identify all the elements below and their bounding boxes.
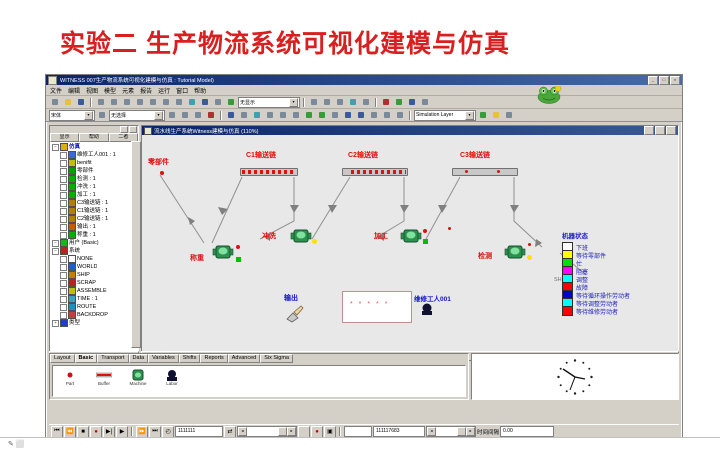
app-title-text: WITNESS 007生产物流系统可视化建模与仿真 : Tutorial Mod… <box>60 76 648 84</box>
pin-tool-icon[interactable] <box>303 109 315 121</box>
system-item-icon <box>68 303 76 311</box>
tree-tab-help[interactable]: 帮助 <box>79 133 108 142</box>
part-icon <box>68 167 76 175</box>
part-marker <box>160 171 164 175</box>
element-tab-six-sigma[interactable]: Six Sigma <box>260 354 293 363</box>
rewind-all-button[interactable]: ⏮ <box>51 426 63 438</box>
toolbar-separator <box>90 98 92 107</box>
variable-icon <box>68 159 76 167</box>
layer-hide-icon[interactable] <box>490 109 502 121</box>
chart-icon[interactable] <box>406 96 418 108</box>
conveyor-icon <box>68 215 76 223</box>
run-icon[interactable] <box>380 96 392 108</box>
tree-system-checkbox[interactable] <box>60 304 67 311</box>
layer-combo-value: Simulation Layer <box>416 112 453 118</box>
legend-rows: 下班等待零部件忙阻塞调整故障等待循环操作劳动者等待调整劳动者等待维修劳动者 <box>562 243 672 315</box>
tree-item-label: 维修工人001 : 1 <box>77 151 116 159</box>
inspect-status-yellow <box>527 255 532 260</box>
tree-type-checkbox[interactable]: + <box>52 320 59 327</box>
element-label: Part <box>59 381 81 386</box>
labor-icon <box>161 369 183 381</box>
tree-system-checkbox[interactable] <box>60 312 67 319</box>
tree-item-label: 加工 : 1 <box>77 191 96 199</box>
pencil-icon[interactable] <box>368 109 380 121</box>
open-icon[interactable] <box>62 96 74 108</box>
stop-button[interactable]: ■ <box>77 426 89 438</box>
element-label: Labor <box>161 381 183 386</box>
tree-item-checkbox[interactable] <box>60 192 67 199</box>
conveyor-c1-parts <box>242 170 296 174</box>
arrow-tool-icon[interactable] <box>381 109 393 121</box>
line-tool-icon[interactable] <box>264 109 276 121</box>
system-item-icon <box>68 287 76 295</box>
tree-system-label: 系统 <box>69 247 80 255</box>
record-button[interactable]: ● <box>90 426 102 438</box>
color-icon[interactable] <box>205 109 217 121</box>
select-icon[interactable] <box>134 96 146 108</box>
tree-item-0[interactable]: 维修工人001 : 1 <box>51 151 138 159</box>
zoom-combo[interactable]: 无显示 ▾ <box>238 97 300 108</box>
tree-panel-caption[interactable] <box>50 126 138 133</box>
toolbar-separator-2 <box>303 98 305 107</box>
time-interval-field[interactable]: 0.00 <box>500 426 554 437</box>
tree-node-label: 仿真 <box>69 143 80 151</box>
window-arrange-icon[interactable] <box>334 96 346 108</box>
circle-tool-icon[interactable] <box>277 109 289 121</box>
zoom-combo-value: 无显示 <box>240 99 255 106</box>
tree-item-label: C2输送链 : 1 <box>77 215 108 223</box>
system-item-icon <box>68 271 76 279</box>
tree-vertical-scrollbar[interactable] <box>131 141 141 348</box>
lock-icon[interactable] <box>329 109 341 121</box>
rewind-button[interactable]: ⏪ <box>64 426 76 438</box>
tree-item-1[interactable]: benifit <box>51 159 138 167</box>
element-panel-body[interactable]: PartBufferMachineLabor <box>52 365 466 397</box>
layer-show-icon[interactable] <box>477 109 489 121</box>
tree-system-item-label: BACKDROP <box>77 311 108 319</box>
label-labor: 维修工人001 <box>414 293 451 303</box>
system-item-icon <box>68 295 76 303</box>
speed-scroller[interactable]: ◂ ▸ <box>237 426 297 437</box>
ship-icon <box>68 223 76 231</box>
display-refresh-icon[interactable] <box>298 426 310 438</box>
tree-system-item-5[interactable]: TIME : 1 <box>51 295 138 303</box>
style-combo-value: 无选择 <box>111 112 126 119</box>
system-item-icon <box>68 263 76 271</box>
element-label: Buffer <box>93 381 115 386</box>
step-button[interactable]: ▶| <box>103 426 115 438</box>
tree-system-item-2[interactable]: SHIP <box>51 271 138 279</box>
tree-close-button[interactable] <box>129 126 137 133</box>
label-conveyor2: C2输送链 <box>348 150 378 160</box>
element-tab-variables[interactable]: Variables <box>148 354 179 363</box>
underline-icon[interactable] <box>192 109 204 121</box>
tree-item-6[interactable]: C3输送链 : 1 <box>51 199 138 207</box>
tree-item-4[interactable]: 冲洗 : 1 <box>51 183 138 191</box>
tree-item-5[interactable]: 加工 : 1 <box>51 191 138 199</box>
tree-tabs[interactable]: 显示 帮助 二者 <box>50 133 138 142</box>
zoom-in-icon[interactable] <box>95 96 107 108</box>
step-value-field[interactable]: 1111111 <box>175 426 223 437</box>
element-machine[interactable]: Machine <box>127 369 149 393</box>
page-footer-strip: ✎ ⬜ <box>0 437 720 450</box>
refresh-icon[interactable] <box>347 96 359 108</box>
new-icon[interactable] <box>49 96 61 108</box>
speed-right-arrow[interactable]: ▸ <box>287 427 296 436</box>
menu-item-edit[interactable]: 编辑 <box>68 86 80 95</box>
statusbar-separator-2 <box>339 427 341 436</box>
window-cascade-icon[interactable] <box>321 96 333 108</box>
workspace: 显示 帮助 二者 − 仿真 维修工人001 : 1benifit零部件检测 : … <box>46 123 682 440</box>
menu-item-report[interactable]: 报告 <box>140 86 152 95</box>
labor-icon <box>68 151 76 159</box>
pointer-icon[interactable] <box>394 109 406 121</box>
weigh-status-red <box>236 245 240 249</box>
align-icon[interactable] <box>173 96 185 108</box>
menu-item-window[interactable]: 窗口 <box>176 86 188 95</box>
machine-tool-icon[interactable] <box>251 109 263 121</box>
tree-system-item-label: TIME : 1 <box>77 295 98 303</box>
chevron-down-icon-layer[interactable]: ▾ <box>465 111 474 120</box>
output-ship-icon[interactable] <box>284 305 306 323</box>
wash-status-yellow <box>312 239 317 244</box>
tree-item-label: 冲洗 : 1 <box>77 183 96 191</box>
element-tab-layout[interactable]: Layout <box>50 354 75 363</box>
model-window-icon <box>144 127 152 135</box>
element-tab-data[interactable]: Data <box>129 354 149 363</box>
tree-item-2[interactable]: 零部件 <box>51 167 138 175</box>
machine-icon <box>127 369 149 381</box>
tree-user-label: 用户 (Basic) <box>69 239 99 247</box>
tree-item-9[interactable]: 输出 : 1 <box>51 223 138 231</box>
zoom-out-icon[interactable] <box>108 96 120 108</box>
clock-icon[interactable]: ◴ <box>162 426 174 438</box>
tree-item-3[interactable]: 检测 : 1 <box>51 175 138 183</box>
conveyor-icon <box>68 199 76 207</box>
legend-swatch <box>562 306 573 316</box>
menu-item-model[interactable]: 模型 <box>104 86 116 95</box>
tree-item-checkbox[interactable] <box>60 216 67 223</box>
machine-icon <box>68 191 76 199</box>
layer-lock-icon[interactable] <box>503 109 515 121</box>
font-combo[interactable]: 宋体 ▾ <box>49 110 95 121</box>
machine-icon <box>68 175 76 183</box>
tree-minimize-button[interactable] <box>120 126 128 133</box>
label-output: 输出 <box>284 293 298 303</box>
tree-icon[interactable] <box>393 96 405 108</box>
system-item-icon <box>68 255 76 263</box>
element-tab-transport[interactable]: Transport <box>97 354 128 363</box>
tree-system-item-label: WORLD <box>77 263 97 271</box>
minimize-button[interactable]: _ <box>648 76 658 85</box>
app-icon <box>48 76 57 85</box>
tree-system-checkbox[interactable] <box>60 272 67 279</box>
tree-system-item-4[interactable]: ASSEMBLE <box>51 287 138 295</box>
table-icon[interactable] <box>342 109 354 121</box>
chevron-down-icon-font[interactable]: ▾ <box>84 111 93 120</box>
label-conveyor3: C3输送链 <box>460 150 490 160</box>
menu-item-run[interactable]: 运行 <box>158 86 170 95</box>
menu-item-element[interactable]: 元素 <box>122 86 134 95</box>
model-window-title: 流水线生产系统Witness建模与仿真 (110%) <box>154 127 258 135</box>
menu-item-view[interactable]: 视图 <box>86 86 98 95</box>
conveyor-c2[interactable] <box>342 168 408 176</box>
tree-item-8[interactable]: C2输送链 : 1 <box>51 215 138 223</box>
speed-icon[interactable]: ⇄ <box>224 426 236 438</box>
analog-clock-icon <box>555 357 595 397</box>
format-separator <box>220 111 222 120</box>
tree-node-user[interactable]: − 用户 (Basic) <box>51 239 138 247</box>
output-report-stars: * * * * * <box>350 301 389 308</box>
system-folder-icon <box>60 247 68 255</box>
legend-row-8: 等待维修劳动者 <box>562 307 672 315</box>
tree-system-item-label: SCRAP <box>77 279 96 287</box>
tree-item-label: C3输送链 : 1 <box>77 199 108 207</box>
process-status-red <box>423 229 427 233</box>
system-item-icon <box>68 279 76 287</box>
canvas-free-part <box>448 227 451 230</box>
text-icon[interactable] <box>212 96 224 108</box>
tree-system-checkbox[interactable] <box>60 296 67 303</box>
legend-title: 机器状态 <box>562 230 672 240</box>
label-conveyor1: C1输送链 <box>246 150 276 160</box>
buffer-tool-icon[interactable] <box>238 109 250 121</box>
clock-panel <box>471 353 679 400</box>
model-close-button[interactable] <box>666 126 676 135</box>
display-icon[interactable] <box>225 96 237 108</box>
tree-item-checkbox[interactable] <box>60 160 67 167</box>
chevron-down-icon[interactable]: ▾ <box>289 98 298 107</box>
tree-node-type[interactable]: + 类型 <box>51 319 138 327</box>
report-icon[interactable] <box>355 109 367 121</box>
conveyor-c3-part-1 <box>465 170 468 173</box>
italic-icon[interactable] <box>179 109 191 121</box>
time-interval-label: 时间间隔 <box>477 428 499 436</box>
tree-system-checkbox[interactable] <box>60 256 67 263</box>
type-folder-icon <box>60 319 68 327</box>
folder-icon <box>60 143 68 151</box>
tree-system-item-label: SHIP <box>77 271 90 279</box>
tree-system-item-6[interactable]: ROUTE <box>51 303 138 311</box>
tree-item-label: 输出 : 1 <box>77 223 96 231</box>
tree-system-item-label: ROUTE <box>77 303 96 311</box>
element-tab-advanced[interactable]: Advanced <box>228 354 260 363</box>
tree-item-10[interactable]: 称重 : 1 <box>51 231 138 239</box>
move-up-icon[interactable] <box>147 96 159 108</box>
model-window-titlebar: 流水线生产系统Witness建模与仿真 (110%) <box>142 126 678 135</box>
part-tool-icon[interactable] <box>225 109 237 121</box>
simulation-statusbar[interactable]: ⏮ ⏪ ■ ● ▶| ▶ ⏩ ⏭ ◴ 1111111 ⇄ ◂ ▸ ● <box>49 424 679 438</box>
conveyor-c2-parts <box>351 170 406 174</box>
tree-system-item-1[interactable]: WORLD <box>51 263 138 271</box>
tree-system-item-label: NONE <box>77 255 93 263</box>
tree-user-checkbox[interactable]: − <box>52 240 59 247</box>
page-title: 实验二 生产物流系统可视化建模与仿真 <box>60 24 510 60</box>
menu-item-file[interactable]: 文件 <box>50 86 62 95</box>
machine-icon <box>68 183 76 191</box>
tree-expand-checkbox[interactable]: − <box>52 144 59 151</box>
speed-thumb[interactable] <box>278 427 287 436</box>
app-titlebar: WITNESS 007生产物流系统可视化建模与仿真 : Tutorial Mod… <box>46 75 682 85</box>
part-icon <box>59 369 81 381</box>
main-toolbar[interactable]: 无显示 ▾ <box>46 96 682 109</box>
model-window-controls[interactable] <box>644 126 676 135</box>
zoom-fit-icon[interactable] <box>121 96 133 108</box>
machine-icon <box>68 231 76 239</box>
inspect-status-red <box>528 243 531 246</box>
tree-item-checkbox[interactable] <box>60 232 67 239</box>
tree-item-7[interactable]: C1输送链 : 1 <box>51 207 138 215</box>
element-labor[interactable]: Labor <box>161 369 183 393</box>
user-folder-icon <box>60 239 68 247</box>
window-controls[interactable]: _ □ × <box>648 76 680 85</box>
tree-system-checkbox[interactable] <box>60 288 67 295</box>
machine-wash[interactable] <box>290 227 312 245</box>
tree-item-checkbox[interactable] <box>60 176 67 183</box>
time-right-arrow[interactable]: ▸ <box>466 427 475 436</box>
window-tile-icon[interactable] <box>308 96 320 108</box>
info-icon[interactable] <box>360 96 372 108</box>
menubar[interactable]: 文件 编辑 视图 模型 元素 报告 运行 窗口 帮助 <box>46 85 682 96</box>
element-buffer[interactable]: Buffer <box>93 369 115 393</box>
rect-tool-icon[interactable] <box>290 109 302 121</box>
grid-icon[interactable] <box>419 96 431 108</box>
buffer-icon <box>93 369 115 381</box>
tree-item-label: 零部件 <box>77 167 94 175</box>
close-button[interactable]: × <box>670 76 680 85</box>
tree-item-checkbox[interactable] <box>60 224 67 231</box>
model-maximize-button[interactable] <box>655 126 665 135</box>
model-window: 流水线生产系统Witness建模与仿真 (110%) <box>141 125 679 352</box>
tree-system-checkbox[interactable] <box>60 264 67 271</box>
tree-item-label: 检测 : 1 <box>77 175 96 183</box>
tree-system-checkbox[interactable] <box>60 280 67 287</box>
format-separator-2 <box>409 111 411 120</box>
tree-system-item-0[interactable]: NONE <box>51 255 138 263</box>
tree-node-simulation[interactable]: − 仿真 <box>51 143 138 151</box>
weigh-status-green <box>236 257 241 262</box>
system-item-icon <box>68 311 76 319</box>
conveyor-icon <box>68 207 76 215</box>
maximize-button[interactable]: □ <box>659 76 669 85</box>
unpin-tool-icon[interactable] <box>316 109 328 121</box>
layer-icon[interactable] <box>199 96 211 108</box>
label-weigh: 称重 <box>190 253 204 263</box>
save-icon[interactable] <box>75 96 87 108</box>
speed-left-arrow[interactable]: ◂ <box>238 427 247 436</box>
time-scroller[interactable]: ◂ ▸ <box>426 426 476 437</box>
tree-item-checkbox[interactable] <box>60 208 67 215</box>
bold-icon[interactable] <box>166 109 178 121</box>
legend-label: 等待维修劳动者 <box>576 307 618 316</box>
tree-item-label: 称重 : 1 <box>77 231 96 239</box>
tree-node-system[interactable]: − 系统 <box>51 247 138 255</box>
label-process: 加工 <box>374 231 388 241</box>
tree-type-label: 类型 <box>69 319 80 327</box>
machine-status-legend: 机器状态 下班等待零部件忙阻塞调整故障等待循环操作劳动者等待调整劳动者等待维修劳… <box>562 230 672 315</box>
toolbar-separator-3 <box>375 98 377 107</box>
element-panel-tabs[interactable]: LayoutBasicTransportDataVariablesShiftsR… <box>50 354 468 363</box>
label-inspect: 检测 <box>478 251 492 261</box>
forward-button[interactable]: ⏩ <box>136 426 148 438</box>
conveyor-c3[interactable] <box>452 168 518 176</box>
status-record-icon[interactable]: ● <box>311 426 323 438</box>
element-tab-basic[interactable]: Basic <box>75 354 98 363</box>
tree-body[interactable]: − 仿真 维修工人001 : 1benifit零部件检测 : 1冲洗 : 1加工… <box>50 142 138 327</box>
model-minimize-button[interactable] <box>644 126 654 135</box>
element-selector-panel[interactable]: LayoutBasicTransportDataVariablesShiftsR… <box>49 353 469 400</box>
witness-application-window: WITNESS 007生产物流系统可视化建模与仿真 : Tutorial Mod… <box>45 74 683 441</box>
tree-item-checkbox[interactable] <box>60 184 67 191</box>
move-down-icon[interactable] <box>160 96 172 108</box>
tree-system-item-3[interactable]: SCRAP <box>51 279 138 287</box>
element-label: Machine <box>127 381 149 386</box>
layer-combo[interactable]: Simulation Layer ▾ <box>414 110 476 121</box>
tree-tab-display[interactable]: 显示 <box>50 133 79 142</box>
tree-system-checkbox[interactable]: − <box>52 248 59 255</box>
time-thumb[interactable] <box>457 427 466 436</box>
simulation-canvas[interactable]: 零部件 C1输送链 C2输送链 C3输送链 <box>142 135 678 351</box>
play-button[interactable]: ▶ <box>116 426 128 438</box>
style-combo[interactable]: 无选择 ▾ <box>109 110 165 121</box>
tree-item-checkbox[interactable] <box>60 152 67 159</box>
machine-process[interactable] <box>400 227 422 245</box>
tree-item-checkbox[interactable] <box>60 168 67 175</box>
mode-field[interactable] <box>344 426 372 437</box>
forward-all-button[interactable]: ⏭ <box>149 426 161 438</box>
chevron-down-icon-style[interactable]: ▾ <box>154 111 163 120</box>
tree-system-item-label: ASSEMBLE <box>77 287 107 295</box>
time-left-arrow[interactable]: ◂ <box>427 427 436 436</box>
process-status-green <box>423 239 428 244</box>
conveyor-c3-parts <box>454 170 516 174</box>
conveyor-c1[interactable] <box>240 168 298 176</box>
element-tab-shifts[interactable]: Shifts <box>179 354 201 363</box>
labor-icon[interactable] <box>420 303 434 315</box>
label-part: 零部件 <box>148 157 169 167</box>
tree-system-list[interactable]: NONEWORLDSHIPSCRAPASSEMBLETIME : 1ROUTEB… <box>51 255 138 319</box>
element-tree-panel[interactable]: 显示 帮助 二者 − 仿真 维修工人001 : 1benifit零部件检测 : … <box>49 125 139 352</box>
font-size-icon[interactable] <box>96 109 108 121</box>
time-value-field[interactable]: 111117683 <box>373 426 425 437</box>
group-icon[interactable] <box>186 96 198 108</box>
frog-logo-icon <box>536 86 562 104</box>
tree-item-label: C1输送链 : 1 <box>77 207 108 215</box>
pen-icon: ✎ ⬜ <box>8 440 25 448</box>
label-wash: 冲洗 <box>262 231 276 241</box>
format-toolbar[interactable]: 宋体 ▾ 无选择 ▾ <box>46 109 682 122</box>
element-tab-reports[interactable]: Reports <box>200 354 227 363</box>
menu-item-help[interactable]: 帮助 <box>194 86 206 95</box>
element-part[interactable]: Part <box>59 369 81 393</box>
conveyor-c3-part-2 <box>497 170 500 173</box>
statusbar-separator <box>131 427 133 436</box>
tree-item-label: benifit <box>77 159 92 167</box>
font-combo-value: 宋体 <box>51 112 61 119</box>
tree-item-checkbox[interactable] <box>60 200 67 207</box>
machine-inspect[interactable] <box>504 243 526 261</box>
machine-weigh[interactable] <box>212 243 234 261</box>
monitor-icon[interactable]: ▣ <box>324 426 336 438</box>
tree-system-item-7[interactable]: BACKDROP <box>51 311 138 319</box>
tree-item-list[interactable]: 维修工人001 : 1benifit零部件检测 : 1冲洗 : 1加工 : 1C… <box>51 151 138 239</box>
